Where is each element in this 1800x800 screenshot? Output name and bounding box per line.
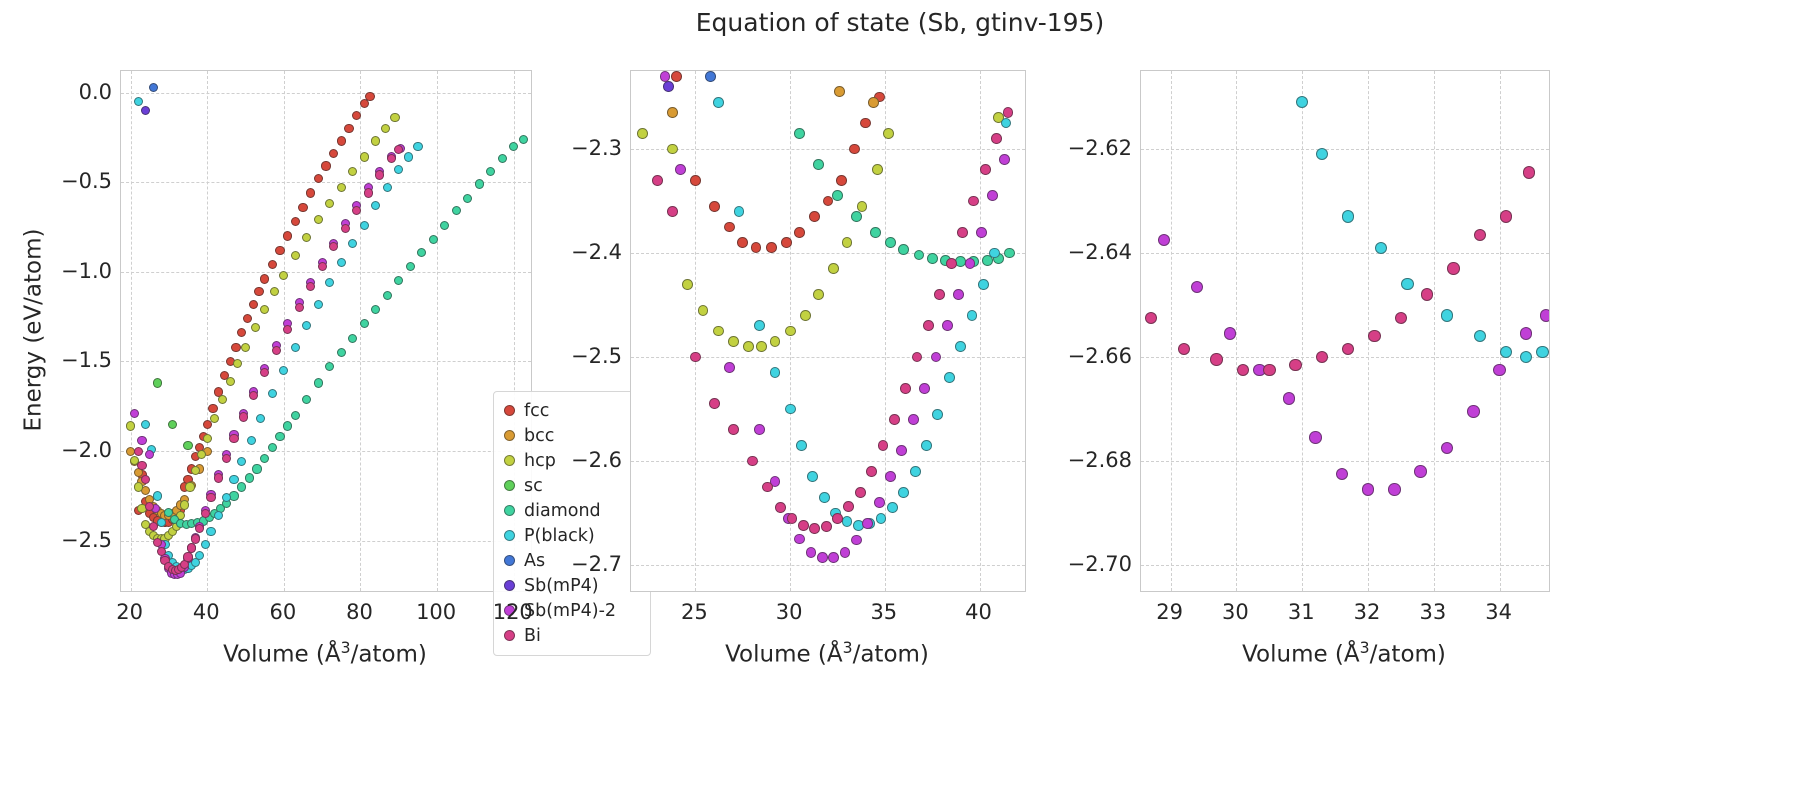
legend-item-sbmp4[interactable]: Sb(mP4) [494,573,650,598]
data-point-fcc [344,124,353,133]
data-point-pblack [141,420,150,429]
data-point-bi [690,352,701,363]
y-tick-label: −2.68 [1052,448,1132,472]
data-point-pblack [1500,346,1512,358]
data-point-fcc [751,242,762,253]
data-point-fcc [809,211,820,222]
data-point-diamond [291,411,300,420]
data-point-pblack [404,152,413,161]
data-point-diamond [475,179,484,188]
data-point-bi [183,552,192,561]
legend-marker-icon [494,580,524,591]
data-point-sbmp4-2 [1414,465,1426,477]
data-point-hcp [302,233,311,242]
data-point-bi [968,196,979,207]
data-point-bi [1368,330,1380,342]
data-point-fcc [849,144,860,155]
data-point-hcp [842,237,853,248]
data-point-sbmp4-2 [817,552,828,563]
data-point-sbmp4-2 [885,471,896,482]
legend-marker-icon [494,480,524,491]
data-point-hcp [872,164,883,175]
data-point-fcc [781,237,792,248]
data-point-bi [306,282,315,291]
figure-title: Equation of state (Sb, gtinv-195) [0,8,1800,37]
data-point-bi [1316,351,1328,363]
data-point-fcc [254,287,263,296]
angstrom-symbol: Å [827,642,843,668]
data-point-pblack [247,436,256,445]
data-point-hcp [667,144,678,155]
data-point-bi [934,289,945,300]
data-point-bi [1237,364,1249,376]
xlabel-pre: Volume ( [223,642,325,668]
data-point-hcp [770,336,781,347]
data-point-bi [1145,312,1157,324]
data-point-hcp [390,113,399,122]
data-point-bi [249,391,258,400]
data-point-bi [149,522,158,531]
data-point-bi [157,547,166,556]
data-point-pblack [1536,346,1548,358]
data-point-fcc [283,231,292,240]
x-tick-label: 40 [965,600,992,624]
data-point-diamond [794,128,805,139]
x-tick-label: 34 [1485,600,1512,624]
legend-item-label: Sb(mP4)-2 [524,601,616,621]
legend-marker-icon [494,405,524,416]
data-point-sbmp4-2 [724,362,735,373]
data-point-pblack [921,440,932,451]
data-point-bi [329,242,338,251]
x-tick-label: 31 [1288,600,1315,624]
data-point-fcc [836,175,847,186]
data-point-hcp [197,450,206,459]
angstrom-symbol: Å [325,642,341,668]
data-point-bi [762,482,773,493]
legend-marker-icon [494,530,524,541]
data-point-diamond [394,276,403,285]
data-point-hcp [728,336,739,347]
data-point-bi [239,412,248,421]
x-tick-label: 32 [1354,600,1381,624]
data-point-pblack [325,278,334,287]
data-point-bi [798,520,809,531]
data-point-sbmp4-2 [908,414,919,425]
data-point-sbmp4-2 [851,535,862,546]
legend-item-fcc[interactable]: fcc [494,398,650,423]
data-point-bi [709,398,720,409]
x-tick-label: 30 [1222,600,1249,624]
data-point-sbmp4-2 [931,352,942,363]
x-axis-label-panel-1: Volume (Å3/atom) [120,638,530,668]
data-point-bcc [667,107,678,118]
data-point-fcc [314,174,323,183]
xlabel-post: /atom) [351,642,427,668]
data-point-sbmp4-2 [145,450,154,459]
data-point-sbmp4-2 [1520,327,1532,339]
data-point-pblack [1001,118,1012,129]
data-point-bi [821,521,832,532]
data-point-pblack [279,366,288,375]
panel-overview: fccbcchcpscdiamondP(black)AsSb(mP4)Sb(mP… [120,70,532,592]
data-point-sbmp4-2 [1540,309,1550,321]
data-point-bi [946,258,957,269]
data-point-hcp [210,414,219,423]
data-point-diamond [275,432,284,441]
data-point-diamond [927,253,938,264]
data-point-sbmp4 [141,106,150,115]
data-point-pblack [394,165,403,174]
legend-marker-icon [494,505,524,516]
data-point-pblack [214,511,223,520]
data-point-bi [141,475,150,484]
data-point-bi [957,227,968,238]
x-tick-label: 80 [346,600,373,624]
data-point-bi [832,513,843,524]
data-point-bi [187,543,196,552]
data-point-diamond [509,142,518,151]
data-point-pblack [978,279,989,290]
data-point-sbmp4-2 [675,164,686,175]
data-point-pblack [1401,278,1413,290]
data-point-fcc [794,227,805,238]
data-point-pblack [256,414,265,423]
data-point-diamond [348,334,357,343]
y-tick-label: −2.3 [542,136,622,160]
data-point-hcp [203,434,212,443]
data-point-hcp [218,395,227,404]
data-point-bi [318,262,327,271]
data-point-bi [923,320,934,331]
data-point-pblack [819,492,830,503]
data-point-bi [787,513,798,524]
legend-marker-icon [494,430,524,441]
data-point-sbmp4-2 [1388,483,1400,495]
data-point-fcc [690,175,701,186]
data-point-hcp [270,287,279,296]
legend-item-label: fcc [524,401,549,421]
data-point-bi [912,352,923,363]
data-point-diamond [337,348,346,357]
xlabel-exponent: 3 [843,638,853,657]
data-point-sc [153,378,162,387]
data-point-diamond [260,454,269,463]
data-point-diamond [870,227,881,238]
data-point-fcc [275,246,284,255]
data-point-diamond [245,473,254,482]
data-point-diamond [832,190,843,201]
data-point-bi [1395,312,1407,324]
data-point-bi [889,414,900,425]
data-point-fcc [365,92,374,101]
x-axis-label-panel-2: Volume (Å3/atom) [630,638,1024,668]
data-point-diamond [283,421,292,430]
data-point-sbmp4-2 [137,436,146,445]
y-tick-label: −0.5 [32,169,112,193]
data-point-diamond [463,194,472,203]
data-point-sbmp4-2 [919,383,930,394]
data-point-bcc [868,97,879,108]
data-point-pblack [302,321,311,330]
data-point-pblack [785,404,796,415]
y-tick-label: −1.0 [32,259,112,283]
data-point-fcc [352,111,361,120]
data-point-bi [843,501,854,512]
data-point-sbmp4-2 [1362,483,1374,495]
data-point-bi [295,303,304,312]
data-point-pblack [195,551,204,560]
data-point-pblack [932,409,943,420]
data-point-diamond [325,362,334,371]
panel-zoom-1-points [631,71,1025,591]
data-point-hcp [698,305,709,316]
data-point-bi [1003,107,1014,118]
data-point-diamond [417,248,426,257]
data-point-pblack [910,466,921,477]
data-point-sbmp4-2 [806,547,817,558]
data-point-hcp [381,124,390,133]
data-point-diamond [268,443,277,452]
data-point-fcc [724,222,735,233]
data-point-sbmp4-2 [1309,431,1321,443]
y-tick-label: −2.5 [542,344,622,368]
data-point-pblack [134,97,143,106]
data-point-pblack [734,206,745,217]
data-point-pblack [291,343,300,352]
data-point-diamond [813,159,824,170]
data-point-bi [272,346,281,355]
xlabel-pre: Volume ( [725,642,827,668]
y-tick-label: −1.5 [32,348,112,372]
data-point-sc [183,441,192,450]
data-point-sbmp4-2 [953,289,964,300]
data-point-bi [260,368,269,377]
data-point-diamond [914,250,925,261]
data-point-bi [387,154,396,163]
data-point-bi [1263,364,1275,376]
data-point-sbmp4-2 [1283,392,1295,404]
data-point-bi [352,206,361,215]
data-point-bi [394,145,403,154]
data-point-fcc [671,71,682,82]
data-point-diamond [885,237,896,248]
data-point-sbmp4 [663,81,674,92]
data-point-bi [137,461,146,470]
data-point-hcp [325,199,334,208]
legend-marker-icon [494,455,524,466]
data-point-sbmp4-2 [828,552,839,563]
data-point-hcp [291,251,300,260]
y-tick-label: −2.4 [542,240,622,264]
xlabel-exponent: 3 [341,638,351,657]
y-tick-label: −2.62 [1052,136,1132,160]
x-tick-label: 60 [269,600,296,624]
legend-item-diamond[interactable]: diamond [494,498,650,523]
data-point-sbmp4-2 [840,547,851,558]
data-point-pblack [770,367,781,378]
data-point-hcp [180,500,189,509]
data-point-diamond [360,319,369,328]
data-point-fcc [709,201,720,212]
data-point-sbmp4-2 [987,190,998,201]
legend-item-label: Sb(mP4) [524,576,599,596]
data-point-bi [900,383,911,394]
data-point-bcc [834,86,845,97]
data-point-hcp [371,136,380,145]
data-point-diamond [302,395,311,404]
x-tick-label: 29 [1156,600,1183,624]
data-point-hcp [743,341,754,352]
data-point-pblack [1441,309,1453,321]
data-point-hcp [348,167,357,176]
data-point-fcc [737,237,748,248]
data-point-fcc [337,136,346,145]
data-point-pblack [201,540,210,549]
x-tick-label: 120 [493,600,533,624]
x-tick-label: 20 [116,600,143,624]
data-point-bi [229,434,238,443]
legend-item-label: bcc [524,426,554,446]
data-point-bi [775,502,786,513]
data-point-hcp [233,359,242,368]
data-point-sbmp4-2 [1336,468,1348,480]
legend-item-label: P(black) [524,526,595,546]
xlabel-exponent: 3 [1360,638,1370,657]
data-point-fcc [237,328,246,337]
y-tick-label: −2.0 [32,438,112,462]
data-point-bi [652,175,663,186]
data-point-bi [214,473,223,482]
data-point-pblack [876,513,887,524]
data-point-bi [878,440,889,451]
data-point-sbmp4-2 [896,445,907,456]
data-point-hcp [314,215,323,224]
data-point-pblack [842,516,853,527]
data-point-hcp [279,271,288,280]
data-point-bi [191,534,200,543]
y-tick-label: 0.0 [32,80,112,104]
data-point-diamond [371,305,380,314]
data-point-hcp [800,310,811,321]
data-point-diamond [486,167,495,176]
data-point-fcc [306,188,315,197]
legend-item-pblack[interactable]: P(black) [494,523,650,548]
data-point-pblack [944,372,955,383]
data-point-hcp [756,341,767,352]
data-point-hcp [185,482,194,491]
data-point-bi [1523,166,1535,178]
data-point-pblack [1316,148,1328,160]
data-point-bi [1210,353,1222,365]
data-point-hcp [883,128,894,139]
data-point-pblack [1342,210,1354,222]
data-point-bi [991,133,1002,144]
data-point-fcc [268,260,277,269]
data-point-bi [809,523,820,534]
data-point-bi [1342,343,1354,355]
data-point-pblack [371,201,380,210]
data-point-sbmp4-2 [1224,327,1236,339]
data-point-sbmp4-2 [874,497,885,508]
y-tick-label: −2.64 [1052,240,1132,264]
data-point-sbmp4-2 [660,71,671,82]
data-point-sbmp4-2 [754,424,765,435]
x-tick-label: 100 [416,600,456,624]
data-point-hcp [241,343,250,352]
data-point-diamond [252,464,261,473]
legend-item-bcc[interactable]: bcc [494,423,650,448]
data-point-diamond [383,291,392,300]
data-point-pblack [887,502,898,513]
data-point-bi [222,454,231,463]
panel-zoom-2-points [1141,71,1549,591]
data-point-bi [375,170,384,179]
data-point-fcc [243,314,252,323]
legend-item-label: sc [524,476,543,496]
y-tick-label: −2.5 [32,528,112,552]
data-point-sc [168,420,177,429]
data-point-bi [1178,343,1190,355]
data-point-hcp [637,128,648,139]
x-axis-label-panel-3: Volume (Å3/atom) [1140,638,1548,668]
data-point-fcc [260,274,269,283]
data-point-pblack [237,457,246,466]
y-tick-label: −2.70 [1052,552,1132,576]
data-point-pblack [1520,351,1532,363]
data-point-pblack [337,258,346,267]
data-point-pblack [754,320,765,331]
data-point-bi [667,206,678,217]
data-point-fcc [291,217,300,226]
data-point-pblack [1296,96,1308,108]
xlabel-post: /atom) [853,642,929,668]
y-tick-label: −2.7 [542,552,622,576]
data-point-pblack [206,527,215,536]
data-point-fcc [208,404,217,413]
data-point-sbmp4-2 [976,227,987,238]
data-point-sbmp4-2 [130,409,139,418]
data-point-diamond [498,154,507,163]
data-point-fcc [249,300,258,309]
data-point-pblack [1474,330,1486,342]
data-point-diamond [237,482,246,491]
data-point-fcc [298,203,307,212]
angstrom-symbol: Å [1344,642,1360,668]
data-point-sbmp4-2 [1467,405,1479,417]
data-point-pblack [153,491,162,500]
data-point-diamond [314,378,323,387]
data-point-pblack [413,142,422,151]
data-point-pblack [383,183,392,192]
data-point-pblack [807,471,818,482]
data-point-sbmp4-2 [999,154,1010,165]
data-point-bi [866,466,877,477]
x-tick-label: 30 [776,600,803,624]
data-point-sbmp4-2 [1191,281,1203,293]
data-point-sbmp4-2 [942,320,953,331]
figure-root: Equation of state (Sb, gtinv-195) Energy… [0,0,1800,800]
data-point-bi [195,524,204,533]
data-point-hcp [682,279,693,290]
data-point-pblack [348,239,357,248]
legend-item-sc[interactable]: sc [494,473,650,498]
data-point-pblack [713,97,724,108]
data-point-diamond [851,211,862,222]
data-point-bi [1500,210,1512,222]
data-point-bi [364,188,373,197]
data-point-hcp [785,326,796,337]
